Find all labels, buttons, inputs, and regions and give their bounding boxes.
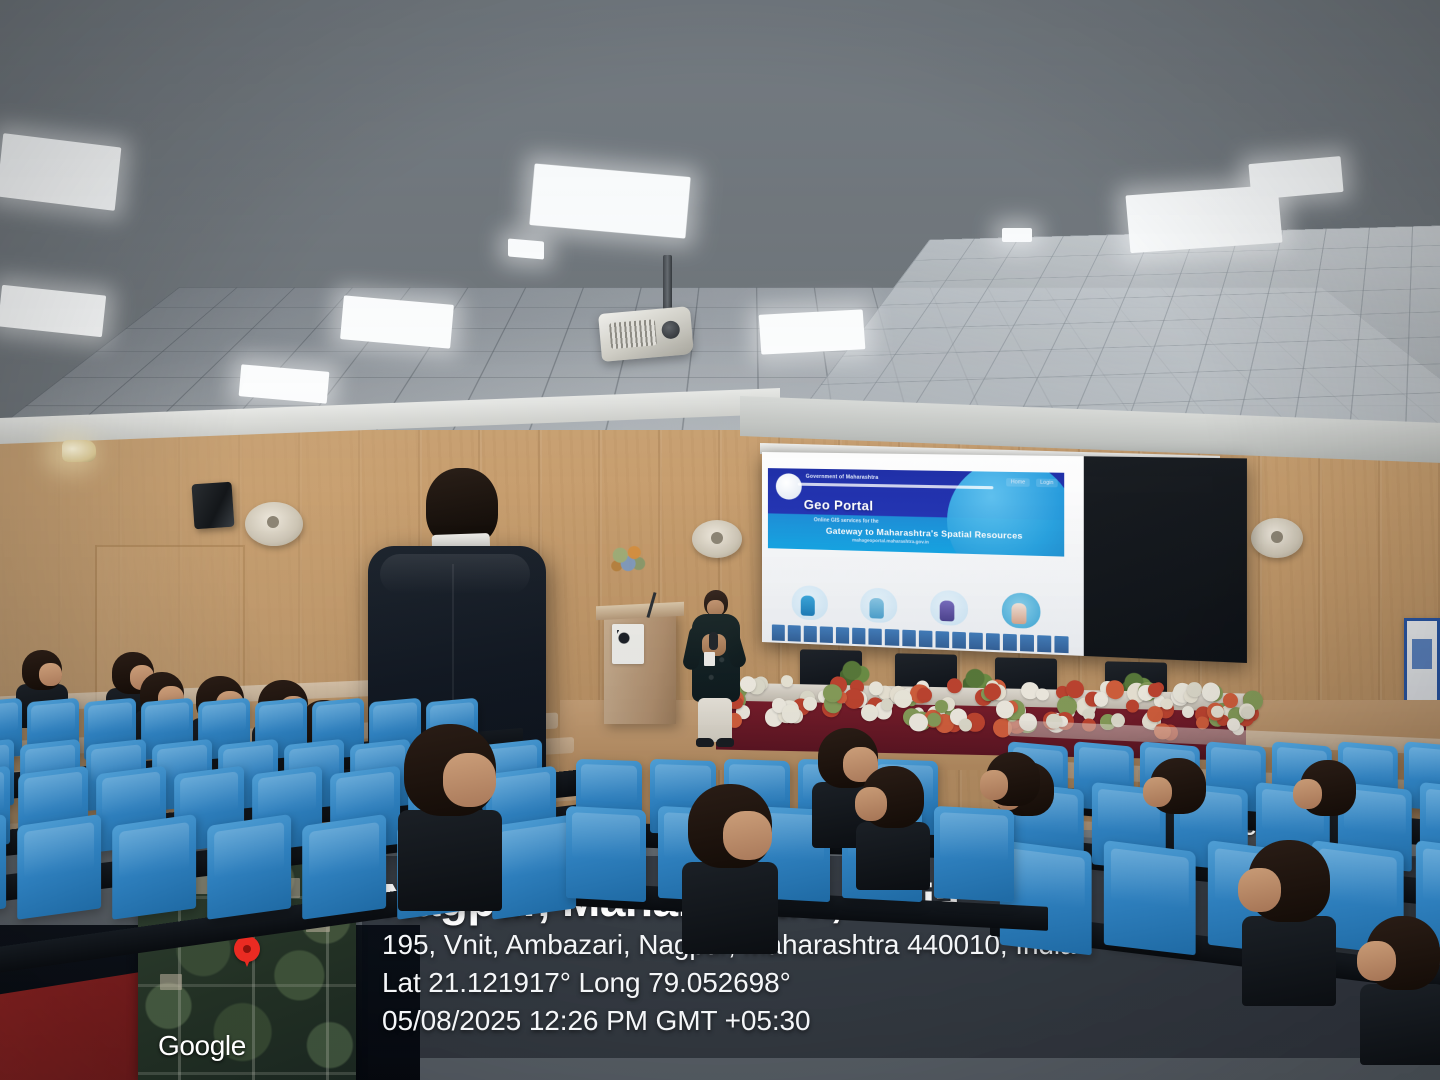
audience-person-head	[688, 784, 772, 868]
flower	[1202, 682, 1221, 701]
ceiling-light-panel	[0, 285, 106, 337]
flower	[1187, 682, 1201, 697]
slide-title: Geo Portal	[804, 497, 874, 514]
audience-person-torso	[682, 862, 778, 954]
slide-illustrations	[776, 568, 1058, 631]
flower	[1182, 706, 1194, 718]
flower	[1066, 680, 1084, 698]
audience-person-torso	[1242, 916, 1336, 1006]
audience-person-with-glasses	[986, 752, 1040, 806]
flower	[927, 713, 941, 727]
ceiling-light-panel	[1248, 156, 1343, 200]
seat[interactable]	[492, 814, 576, 920]
audience-person-head	[1366, 916, 1440, 990]
audience-person-torso	[398, 810, 502, 911]
projection-screen-unused-area	[1084, 456, 1247, 663]
slide-subtitle-url: mahageoportal.maharashtra.gov.in	[852, 537, 929, 544]
flower	[823, 684, 841, 703]
speaker-shoe	[716, 738, 734, 747]
projected-slide: Government of Maharashtra Home Login Geo…	[762, 452, 1084, 656]
audience-person-head	[1150, 758, 1206, 814]
projector-mount-rod	[663, 255, 672, 315]
audience-person-head	[1248, 840, 1330, 922]
wall-fan-icon	[1251, 518, 1303, 558]
photo-canvas: Government of Maharashtra Home Login Geo…	[0, 0, 1440, 1080]
ceiling-light-panel	[529, 163, 690, 238]
map-pin-icon	[234, 936, 260, 962]
seat[interactable]	[207, 814, 291, 920]
ceiling-light-panel	[759, 309, 866, 354]
wall-fan-icon	[692, 520, 742, 558]
flower	[917, 688, 932, 704]
ceiling-light-panel	[1002, 228, 1032, 242]
map-building	[160, 974, 182, 990]
podium-logo-plate	[612, 624, 644, 664]
ceiling-projector-icon	[598, 306, 694, 362]
flower	[1094, 692, 1108, 707]
flower	[1126, 699, 1139, 712]
slide-gov-header: Government of Maharashtra	[806, 474, 879, 481]
flower	[803, 696, 817, 711]
seat[interactable]	[17, 814, 101, 920]
slide-subtitle-small: Online GIS services for the	[814, 517, 879, 525]
overlay-timestamp: 05/08/2025 12:26 PM GMT +05:30	[382, 1002, 1440, 1040]
podium-icon	[604, 612, 676, 724]
audience-person-torso	[1360, 984, 1440, 1065]
speaker-id-badge	[704, 652, 715, 666]
flower	[1242, 707, 1253, 719]
map-provider-label: Google	[158, 1030, 246, 1062]
audience-person-head	[22, 650, 62, 690]
audience-person-torso	[856, 822, 930, 890]
standing-man-highlight	[380, 554, 530, 594]
flower	[984, 683, 1001, 700]
flower	[1148, 683, 1161, 697]
wall-speaker-icon	[191, 482, 234, 530]
speaker-person	[682, 590, 744, 748]
slide-banner: Government of Maharashtra Home Login Geo…	[768, 468, 1064, 557]
ceiling-light-panel	[508, 238, 544, 259]
flower	[1036, 688, 1048, 701]
slide-nav-item[interactable]: Home	[1007, 478, 1030, 487]
data-layers-illustration	[856, 575, 901, 626]
flower	[935, 700, 947, 713]
projector-lens	[661, 320, 681, 340]
state-emblem-icon	[776, 473, 802, 500]
citizen-service-illustration	[788, 573, 832, 623]
flower	[1147, 706, 1163, 722]
flower	[1211, 706, 1223, 719]
flower	[947, 679, 962, 694]
ceiling-light-panel	[0, 133, 121, 211]
seat[interactable]	[566, 806, 646, 902]
microphone-icon	[709, 632, 718, 650]
flower	[1223, 693, 1238, 708]
speaker-shoe	[696, 738, 714, 747]
wall-fan-icon	[245, 502, 303, 546]
seat[interactable]	[0, 814, 6, 920]
seat[interactable]	[934, 806, 1014, 902]
wall-lamp-icon	[62, 440, 96, 462]
support-illustration	[998, 580, 1045, 632]
flower	[1106, 680, 1124, 699]
flower	[781, 675, 792, 687]
wall-floral-decoration	[607, 540, 651, 578]
flower	[861, 704, 878, 721]
flower	[1161, 698, 1172, 710]
audience-person-head	[1300, 760, 1356, 816]
slide-nav: Home Login	[1007, 478, 1058, 487]
projection-screen: Government of Maharashtra Home Login Geo…	[762, 452, 1247, 663]
flower	[909, 713, 928, 732]
audience-person-head	[404, 724, 496, 816]
flower	[996, 700, 1014, 718]
slide-nav-item[interactable]: Login	[1036, 479, 1058, 488]
seat[interactable]	[302, 814, 386, 920]
audience-person-head	[862, 766, 924, 828]
speaker-trousers	[698, 698, 732, 742]
seat[interactable]	[1104, 840, 1196, 955]
flower	[782, 704, 801, 723]
seat[interactable]	[112, 814, 196, 920]
projector-vent	[609, 319, 657, 349]
analytics-illustration	[926, 577, 972, 628]
